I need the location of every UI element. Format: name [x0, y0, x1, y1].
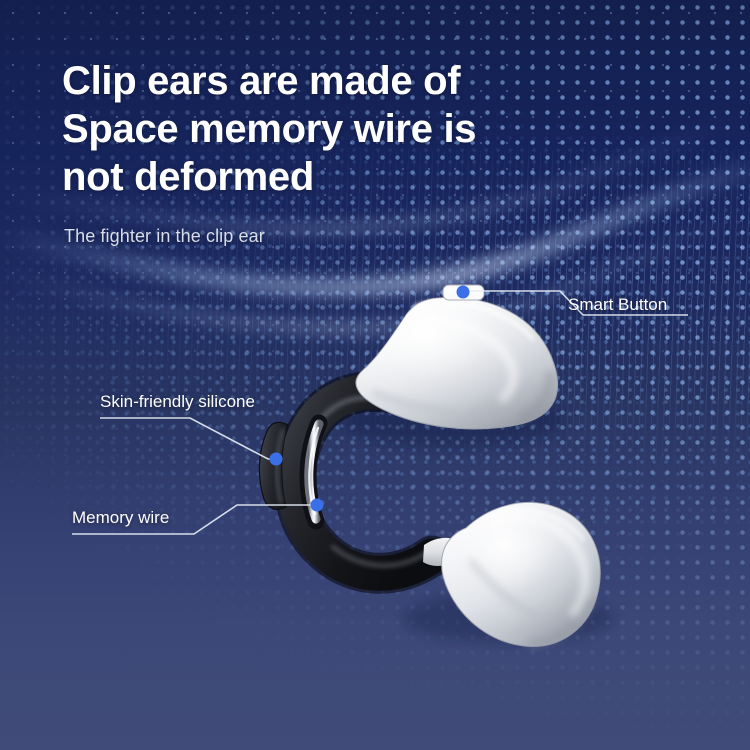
product-image-clip-earbud [0, 0, 750, 750]
callout-label-skin-friendly-silicone: Skin-friendly silicone [100, 392, 255, 412]
callout-label-memory-wire: Memory wire [72, 508, 169, 528]
callout-label-smart-button: Smart Button [568, 295, 667, 315]
marketing-banner: Clip ears are made of Space memory wire … [0, 0, 750, 750]
exposed-memory-wire [308, 423, 319, 521]
upper-ear-pod [356, 298, 558, 429]
smart-button-tab [443, 285, 484, 300]
